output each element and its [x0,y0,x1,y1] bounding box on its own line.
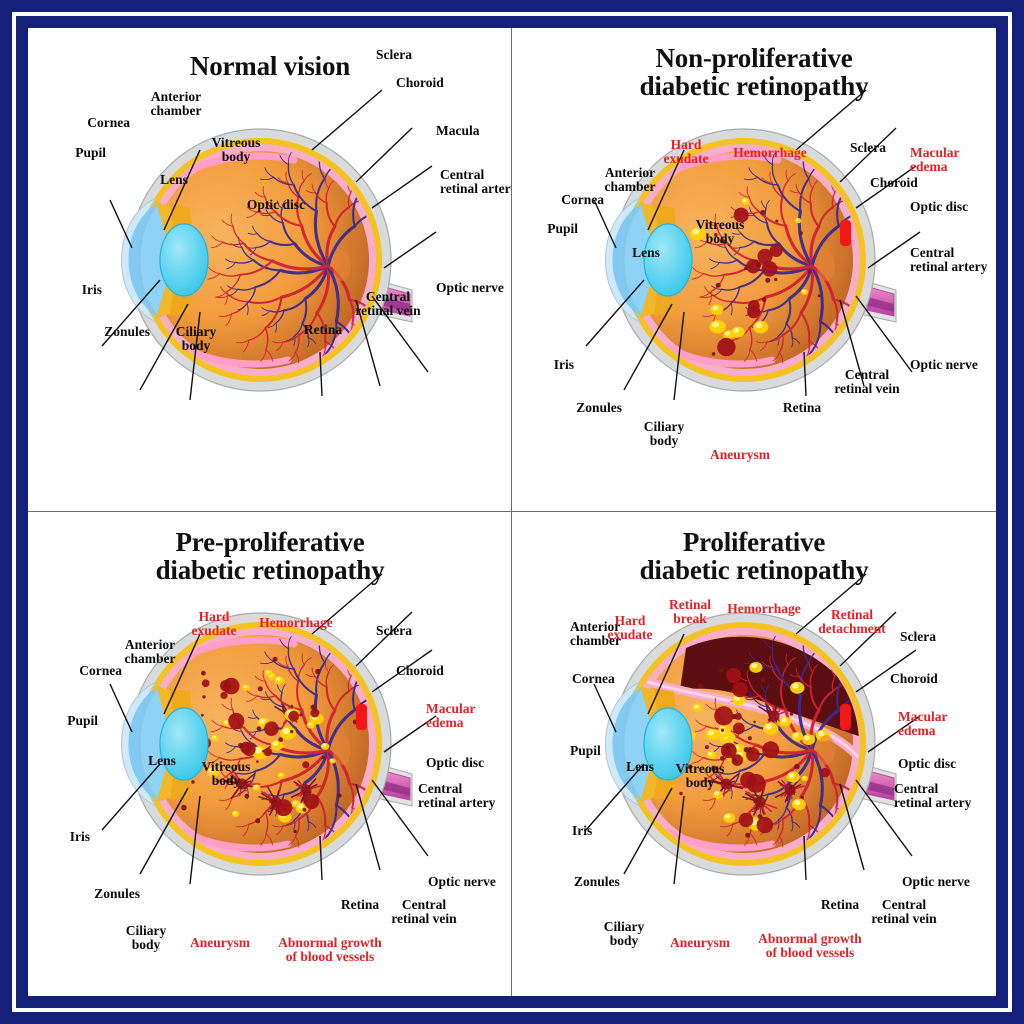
label-central-retinal-vein: Central retinal vein [834,368,899,396]
eye-diagram: Hard exudateHemorrhageAnterior chamberCo… [512,28,996,512]
label-optic-disc: Optic disc [426,756,484,770]
label-choroid: Choroid [396,76,444,90]
label-zonules: Zonules [94,887,140,901]
label-abnormal-growth: Abnormal growth of blood vessels [278,936,382,964]
label-iris: Iris [70,830,90,844]
label-central-retinal-artery: Central retinal artery [418,782,495,810]
label-cornea: Cornea [87,116,130,130]
label-sclera: Sclera [850,141,886,155]
label-choroid: Choroid [870,176,918,190]
label-optic-nerve: Optic nerve [910,358,978,372]
label-anterior-chamber: Anterior chamber [605,166,656,194]
label-macular-edema: Macular edema [426,702,476,730]
label-hard-exudate: Hard exudate [664,138,709,166]
label-ciliary-body: Ciliary body [126,924,167,952]
label-pupil: Pupil [75,146,106,160]
label-retinal-detachment: Retinal detachment [818,608,886,636]
label-macula: Macula [436,124,480,138]
label-lens: Lens [626,760,654,774]
label-optic-disc: Optic disc [898,757,956,771]
label-lens: Lens [632,246,660,260]
label-vitreous-body: Vitreous body [676,762,725,790]
label-hemorrhage: Hemorrhage [727,602,800,616]
label-central-retinal-artery: Central retinal artery [440,168,512,196]
label-pupil: Pupil [547,222,578,236]
label-aneurysm: Aneurysm [670,936,730,950]
panel-non-proliferative: Non-proliferativediabetic retinopathyHar… [512,28,996,512]
label-zonules: Zonules [104,325,150,339]
label-vitreous-body: Vitreous body [212,136,261,164]
label-hemorrhage: Hemorrhage [733,146,806,160]
label-central-retinal-vein: Central retinal vein [355,290,420,318]
label-optic-nerve: Optic nerve [428,875,496,889]
label-central-retinal-vein: Central retinal vein [391,898,456,926]
label-pupil: Pupil [570,744,601,758]
label-hemorrhage: Hemorrhage [259,616,332,630]
label-cornea: Cornea [79,664,122,678]
label-optic-nerve: Optic nerve [902,875,970,889]
label-cornea: Cornea [561,193,604,207]
label-ciliary-body: Ciliary body [176,325,217,353]
label-zonules: Zonules [576,401,622,415]
label-retina: Retina [341,898,379,912]
eye-diagram: Anterior chamberCorneaPupilIrisZonulesCi… [28,28,512,512]
label-sclera: Sclera [900,630,936,644]
figure-frame: Normal visionAnterior chamberCorneaPupil… [0,0,1024,1024]
label-vitreous-body: Vitreous body [202,760,251,788]
label-sclera: Sclera [376,48,412,62]
label-central-retinal-vein: Central retinal vein [871,898,936,926]
label-central-retinal-artery: Central retinal artery [894,782,971,810]
panel-normal-vision: Normal visionAnterior chamberCorneaPupil… [28,28,512,512]
label-optic-disc: Optic disc [247,198,305,212]
label-optic-nerve: Optic nerve [436,281,504,295]
label-retina: Retina [783,401,821,415]
label-retina: Retina [821,898,859,912]
eye-diagram: Hard exudateHemorrhageAnterior chamberCo… [28,512,512,996]
label-vitreous-body: Vitreous body [696,218,745,246]
label-central-retinal-artery: Central retinal artery [910,246,987,274]
panel-pre-proliferative: Pre-proliferativediabetic retinopathyHar… [28,512,512,996]
label-macular-edema: Macular edema [898,710,948,738]
label-pupil: Pupil [67,714,98,728]
label-iris: Iris [82,283,102,297]
label-ciliary-body: Ciliary body [644,420,685,448]
label-choroid: Choroid [396,664,444,678]
leader-lines [28,28,512,512]
label-optic-disc: Optic disc [910,200,968,214]
label-cornea: Cornea [572,672,615,686]
label-aneurysm: Aneurysm [710,448,770,462]
label-retinal-break: Retinal break [669,598,711,626]
label-sclera: Sclera [376,624,412,638]
label-abnormal-growth: Abnormal growth of blood vessels [758,932,862,960]
figure-canvas: Normal visionAnterior chamberCorneaPupil… [28,28,996,996]
label-anterior-chamber: Anterior chamber [570,620,621,648]
label-ciliary-body: Ciliary body [604,920,645,948]
eye-diagram: Retinal breakHard exudateHemorrhageRetin… [512,512,996,996]
label-hard-exudate: Hard exudate [192,610,237,638]
label-anterior-chamber: Anterior chamber [125,638,176,666]
panel-proliferative: Proliferativediabetic retinopathyRetinal… [512,512,996,996]
label-iris: Iris [572,824,592,838]
label-retina: Retina [304,323,342,337]
label-iris: Iris [554,358,574,372]
label-macular-edema: Macular edema [910,146,960,174]
label-lens: Lens [148,754,176,768]
label-aneurysm: Aneurysm [190,936,250,950]
label-choroid: Choroid [890,672,938,686]
label-lens: Lens [160,173,188,187]
label-zonules: Zonules [574,875,620,889]
label-anterior-chamber: Anterior chamber [151,90,202,118]
